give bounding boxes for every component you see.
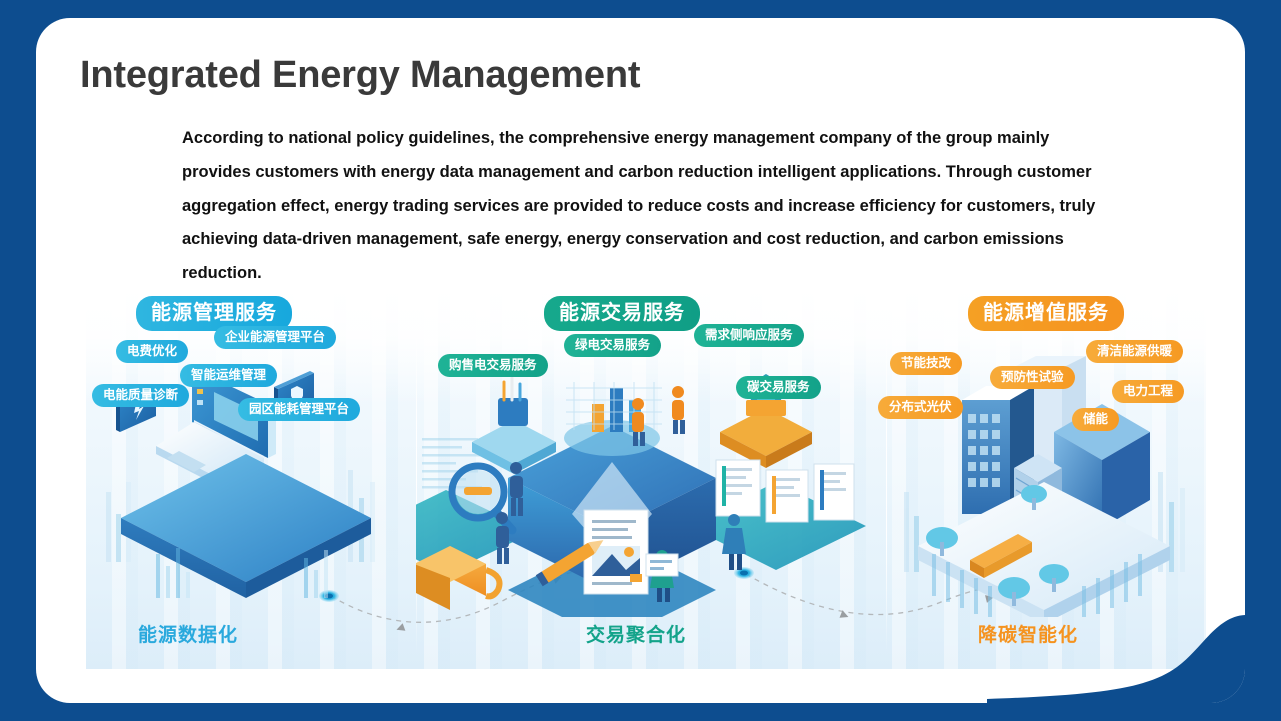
panel-header-pill: 能源交易服务 xyxy=(544,296,700,331)
body-paragraph: According to national policy guidelines,… xyxy=(182,122,1112,291)
page-title: Integrated Energy Management xyxy=(80,54,640,97)
slide-background: Integrated Energy Management According t… xyxy=(0,0,1281,721)
tag-yufangxing-shiyan[interactable]: 预防性试验 xyxy=(990,366,1075,389)
page-number: 27 xyxy=(1177,674,1191,689)
panel-caption: 能源数据化 xyxy=(138,620,238,647)
panel-energy-trading-service[interactable]: 能源交易服务 购售电交易服务 绿电交易服务 需求侧响应服务 碳交易服务 交易聚合… xyxy=(416,284,886,669)
tag-dian-fei-you-hua[interactable]: 电费优化 xyxy=(116,340,188,363)
tag-gou-shou-dian-jiaoyi[interactable]: 购售电交易服务 xyxy=(438,354,548,377)
tag-diangneng-zhiliang-zhenduan[interactable]: 电能质量诊断 xyxy=(92,384,189,407)
tag-jieneng-jigai[interactable]: 节能技改 xyxy=(890,352,962,375)
tag-chuneng[interactable]: 储能 xyxy=(1072,408,1119,431)
tag-qiye-nengyuan-pingtai[interactable]: 企业能源管理平台 xyxy=(214,326,336,349)
illustration-strip: 能源管理服务 电费优化 企业能源管理平台 智能运维管理 电能质量诊断 园区能耗管… xyxy=(86,284,1206,669)
slide-card: Integrated Energy Management According t… xyxy=(36,18,1245,703)
tag-yuanqu-nenghao-pingtai[interactable]: 园区能耗管理平台 xyxy=(238,398,360,421)
tag-dianli-gongcheng[interactable]: 电力工程 xyxy=(1112,380,1184,403)
panel-energy-value-added-service[interactable]: 能源增值服务 节能技改 预防性试验 清洁能源供暖 电力工程 分布式光伏 储能 降… xyxy=(886,284,1206,669)
tag-xuqiuce-xiangying[interactable]: 需求侧响应服务 xyxy=(694,324,804,347)
panel-energy-management-service[interactable]: 能源管理服务 电费优化 企业能源管理平台 智能运维管理 电能质量诊断 园区能耗管… xyxy=(86,284,416,669)
tag-qingjie-nengyuan-gongnuan[interactable]: 清洁能源供暖 xyxy=(1086,340,1183,363)
tag-fenbushi-guangfu[interactable]: 分布式光伏 xyxy=(878,396,963,419)
tag-lv-dian-jiaoyi[interactable]: 绿电交易服务 xyxy=(564,334,661,357)
panel-caption: 降碳智能化 xyxy=(978,620,1078,647)
tag-zhineng-yunwei-guanli[interactable]: 智能运维管理 xyxy=(180,364,277,387)
panel-caption: 交易聚合化 xyxy=(586,620,686,647)
tag-tan-jiaoyi-fuwu[interactable]: 碳交易服务 xyxy=(736,376,821,399)
panel-header-pill: 能源增值服务 xyxy=(968,296,1124,331)
